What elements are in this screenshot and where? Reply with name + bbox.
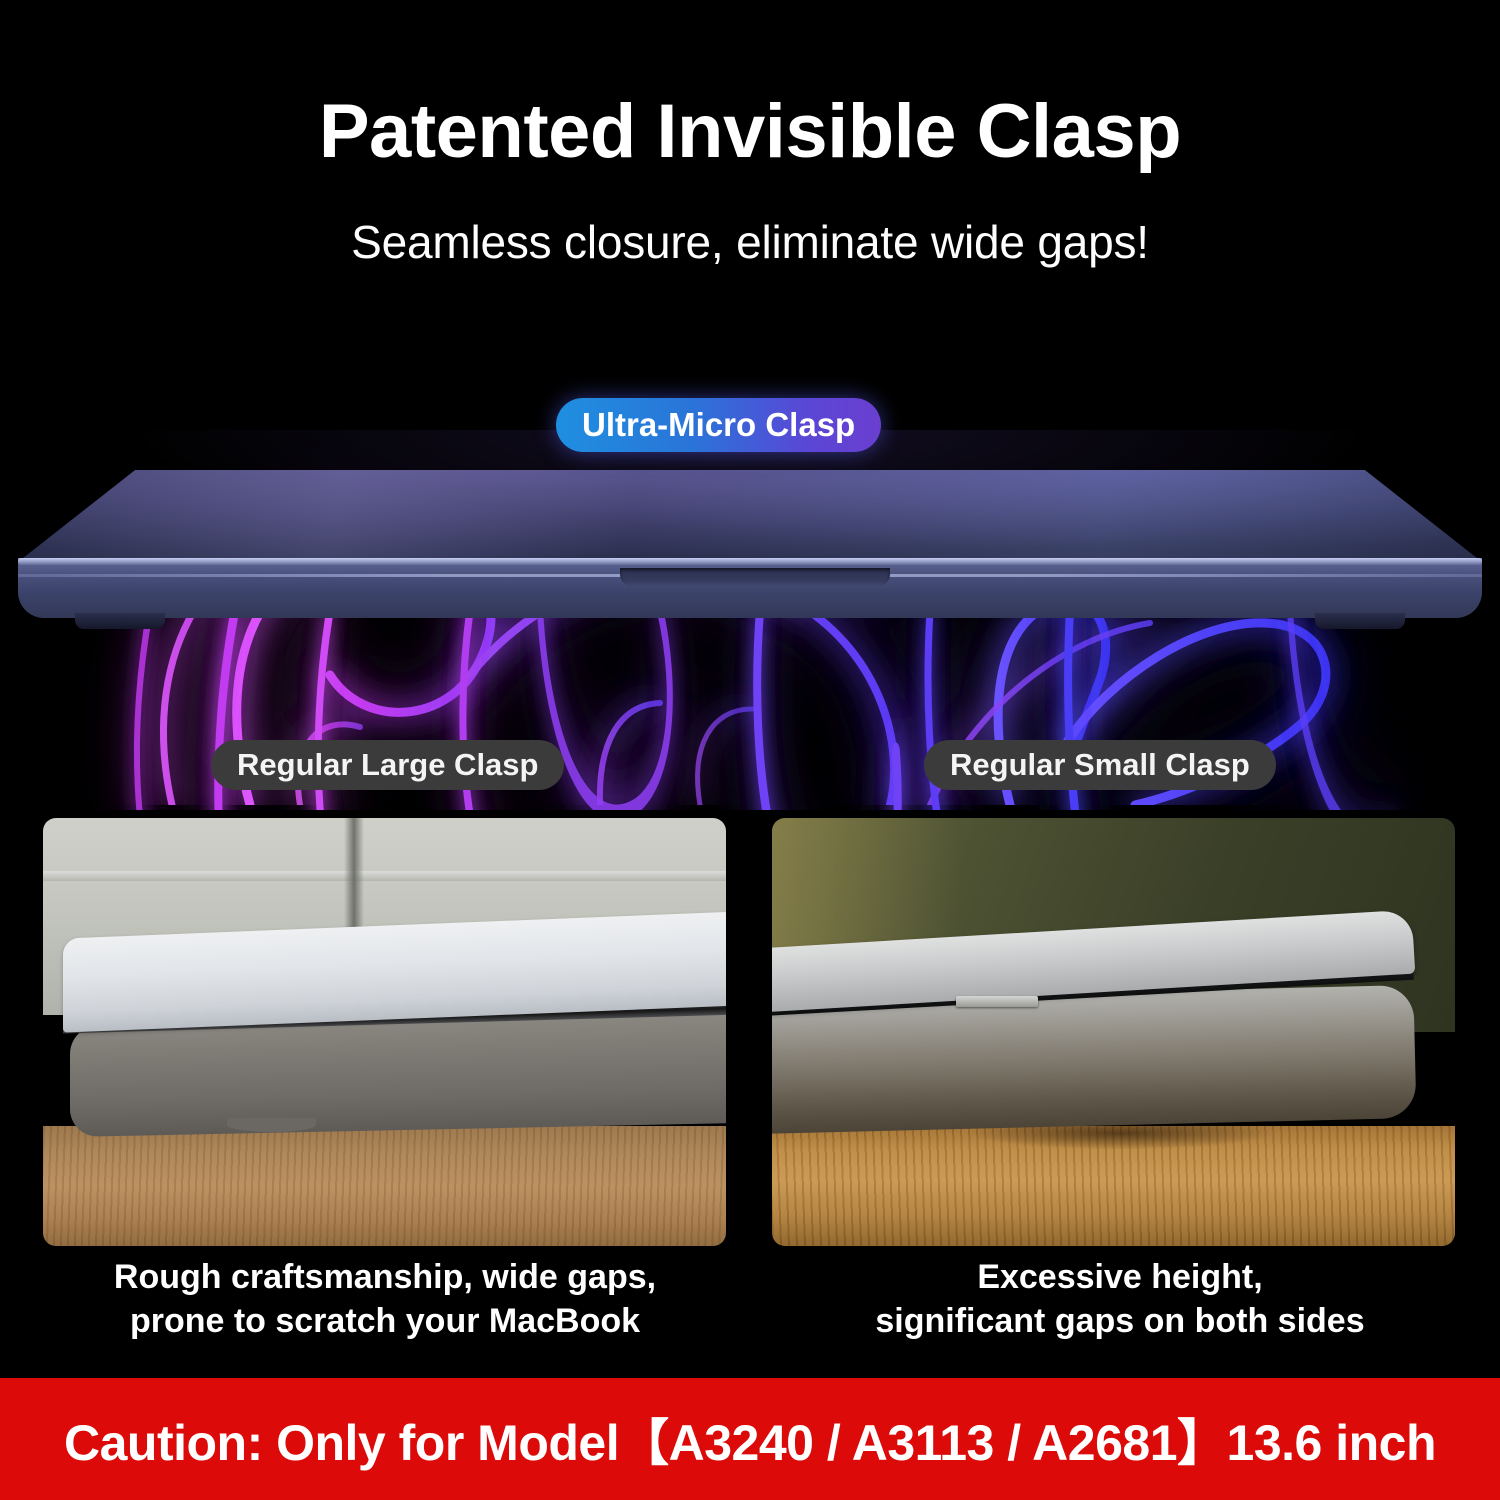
case-foot-right [1315, 613, 1405, 629]
badge-primary-label: Ultra-Micro Clasp [582, 406, 855, 444]
caption-left-line2: prone to scratch your MacBook [35, 1300, 735, 1344]
badge-ultra-micro-clasp[interactable]: Ultra-Micro Clasp [556, 398, 881, 452]
marketing-image-canvas: Patented Invisible Clasp Seamless closur… [0, 0, 1500, 1500]
caption-right-line1: Excessive height, [770, 1256, 1470, 1300]
photo-left-sofa-seam [43, 871, 726, 881]
page-title: Patented Invisible Clasp [0, 92, 1500, 172]
case-foot-left [75, 613, 165, 629]
photo-right-clasp-tab [956, 996, 1038, 1007]
badge-regular-large-clasp[interactable]: Regular Large Clasp [211, 740, 564, 790]
caption-right-line2: significant gaps on both sides [770, 1300, 1470, 1344]
badge-right-label: Regular Small Clasp [950, 747, 1250, 783]
comparison-photo-left [43, 818, 726, 1246]
product-macbook-case [0, 470, 1500, 650]
page-subtitle: Seamless closure, eliminate wide gaps! [0, 215, 1500, 269]
case-finger-notch [620, 568, 890, 586]
caution-banner-text: Caution: Only for Model【A3240 / A3113 / … [64, 1403, 1436, 1475]
badge-regular-small-clasp[interactable]: Regular Small Clasp [924, 740, 1276, 790]
caption-left-line1: Rough craftsmanship, wide gaps, [35, 1256, 735, 1300]
caption-right: Excessive height, significant gaps on bo… [770, 1256, 1470, 1343]
comparison-photo-right [772, 818, 1455, 1246]
caution-banner: Caution: Only for Model【A3240 / A3113 / … [0, 1378, 1500, 1500]
comparison-photo-row [0, 818, 1500, 1246]
photo-left-wood-table [43, 1126, 726, 1246]
case-front-highlight [18, 558, 1482, 565]
case-front-edge [18, 558, 1482, 618]
photo-left-case-base [70, 1012, 726, 1137]
badge-left-label: Regular Large Clasp [237, 747, 538, 783]
case-top-sheen [18, 470, 1482, 562]
caption-left: Rough craftsmanship, wide gaps, prone to… [35, 1256, 735, 1343]
